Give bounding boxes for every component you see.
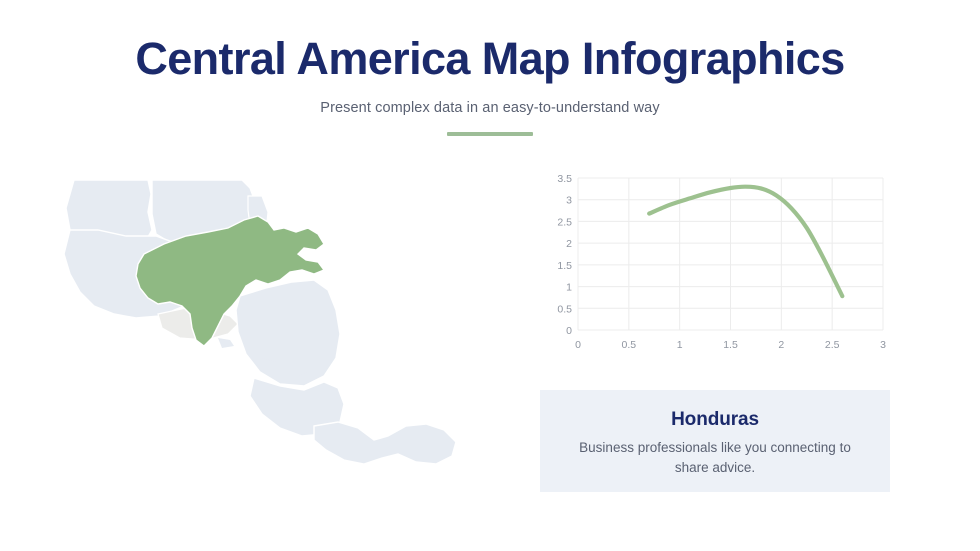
map-country-nicaragua[interactable] [236,280,340,386]
y-tick-label: 0 [566,325,572,337]
x-tick-label: 1.5 [723,339,738,351]
accent-divider [447,132,533,136]
y-tick-label: 1 [566,282,572,294]
y-tick-label: 3 [566,195,572,207]
line-chart[interactable]: 3.5 3 2.5 2 1.5 1 0.5 0 0 0.5 1 1.5 2 2.… [548,172,892,364]
y-tick-label: 1.5 [557,260,572,272]
y-tick-label: 2.5 [557,216,572,228]
country-info-title: Honduras [540,390,890,431]
map-country-panama[interactable] [314,422,456,464]
central-america-map[interactable] [52,178,492,518]
chart-y-axis-ticks: 3.5 3 2.5 2 1.5 1 0.5 0 [557,173,572,337]
chart-svg: 3.5 3 2.5 2 1.5 1 0.5 0 0 0.5 1 1.5 2 2.… [548,172,892,364]
slide: Central America Map Infographics Present… [0,0,980,551]
x-tick-label: 0.5 [622,339,637,351]
page-subtitle: Present complex data in an easy-to-under… [0,100,980,116]
map-island-4 [218,338,234,348]
chart-x-axis-ticks: 0 0.5 1 1.5 2 2.5 3 [575,339,886,351]
x-tick-label: 2.5 [825,339,840,351]
country-info-card[interactable]: Honduras Business professionals like you… [540,390,890,492]
y-tick-label: 2 [566,238,572,250]
x-tick-label: 2 [778,339,784,351]
x-tick-label: 3 [880,339,886,351]
x-tick-label: 1 [677,339,683,351]
y-tick-label: 0.5 [557,303,572,315]
page-title: Central America Map Infographics [0,34,980,84]
country-info-description: Business professionals like you connecti… [540,438,890,477]
x-tick-label: 0 [575,339,581,351]
y-tick-label: 3.5 [557,173,572,185]
map-svg [52,178,492,518]
slide-header: Central America Map Infographics Present… [0,34,980,136]
